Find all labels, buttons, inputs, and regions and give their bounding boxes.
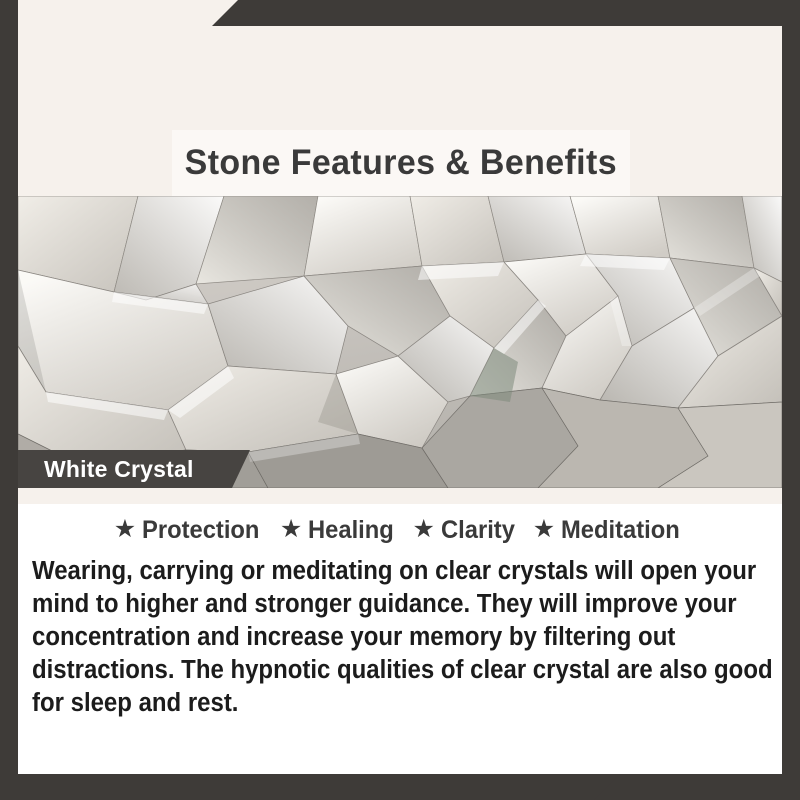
benefit-item-clarity: ★ Clarity (413, 516, 519, 545)
page-title: Stone Features & Benefits (185, 143, 617, 183)
frame-right-edge (782, 0, 800, 800)
star-icon: ★ (413, 517, 435, 542)
star-icon: ★ (533, 517, 555, 542)
star-icon: ★ (114, 517, 136, 542)
frame-top-accent (212, 0, 800, 26)
page-title-box: Stone Features & Benefits (172, 130, 630, 196)
stone-name-label: White Crystal (18, 456, 194, 483)
infographic-page: Karma Ripple Stone Features & Benefits (0, 0, 800, 800)
frame-bottom-accent (0, 774, 620, 800)
benefit-label: Healing (308, 516, 394, 545)
benefit-label: Protection (142, 516, 259, 545)
divider-strip (18, 488, 782, 504)
content-panel: ★ Protection ★ Healing ★ Clarity ★ Medit… (18, 504, 782, 774)
star-icon: ★ (280, 517, 302, 542)
description-paragraph: Wearing, carrying or meditating on clear… (32, 555, 784, 720)
benefit-item-healing: ★ Healing (280, 516, 399, 545)
benefits-list: ★ Protection ★ Healing ★ Clarity ★ Medit… (18, 504, 782, 545)
frame-left-edge (0, 0, 18, 800)
benefit-item-protection: ★ Protection (114, 516, 266, 545)
stone-name-badge: White Crystal (18, 450, 250, 488)
benefit-label: Clarity (441, 516, 515, 545)
benefit-label: Meditation (561, 516, 680, 545)
benefit-item-meditation: ★ Meditation (533, 516, 686, 545)
crystal-photo-image (18, 196, 782, 488)
crystal-photo (18, 196, 782, 488)
